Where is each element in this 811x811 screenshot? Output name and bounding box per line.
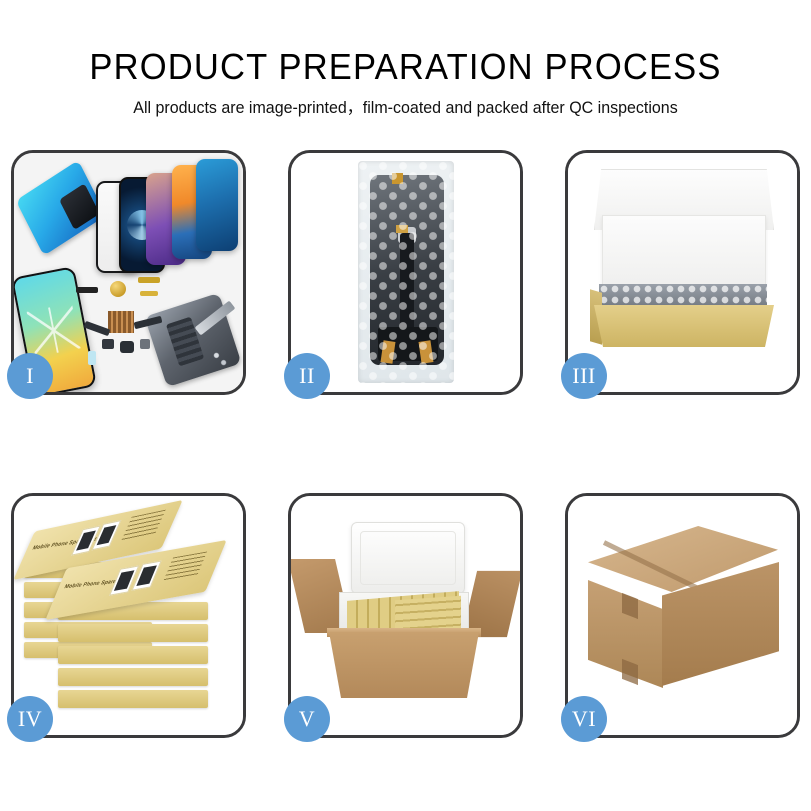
step-badge-2: II — [284, 353, 330, 399]
gold-box-graphic — [58, 690, 208, 708]
page-header: PRODUCT PREPARATION PROCESS All products… — [0, 0, 811, 119]
step-badge-1: I — [7, 353, 53, 399]
chip-grid-graphic — [108, 311, 134, 333]
bubble-bag-graphic — [358, 161, 454, 383]
step-badge-6: VI — [561, 696, 607, 742]
small-component-graphic — [140, 339, 150, 349]
gold-box-graphic — [58, 624, 208, 642]
step-1-image — [14, 153, 243, 392]
foam-sheet-graphic — [602, 215, 766, 289]
foam-lid-graphic — [351, 522, 465, 594]
process-step-5[interactable]: V — [288, 493, 523, 738]
process-step-2[interactable]: II — [288, 150, 523, 395]
page-title: PRODUCT PREPARATION PROCESS — [16, 46, 795, 88]
page-subtitle: All products are image-printed，film-coat… — [12, 97, 799, 119]
step-3-image — [568, 153, 797, 392]
step-6-image — [568, 496, 797, 735]
gold-box-graphic — [58, 646, 208, 664]
process-step-6[interactable]: VI — [565, 493, 800, 738]
small-component-graphic — [88, 351, 96, 365]
step-2-image — [291, 153, 520, 392]
gold-connector-graphic — [140, 291, 158, 296]
gold-box-graphic — [58, 668, 208, 686]
crack-pattern — [27, 303, 81, 357]
process-step-3[interactable]: III — [565, 150, 800, 395]
gold-connector-graphic — [138, 277, 160, 283]
process-step-1[interactable]: I — [11, 150, 246, 395]
screen-protector-graphic — [16, 160, 107, 256]
process-step-4[interactable]: Mobile Phone Spare Parts Mobile Phone Sp… — [11, 493, 246, 738]
process-step-grid: I II — [11, 150, 800, 738]
phone-teal-graphic — [196, 159, 238, 251]
flex-cable-graphic — [84, 321, 111, 336]
bubble-texture — [358, 161, 454, 383]
carton-body-graphic — [329, 632, 479, 698]
carton-packing-illustration — [291, 496, 520, 735]
earpiece-graphic — [76, 287, 98, 293]
box-front-graphic — [594, 305, 774, 347]
step-badge-3: III — [561, 353, 607, 399]
step-4-image: Mobile Phone Spare Parts Mobile Phone Sp… — [14, 496, 243, 735]
screws-graphic — [211, 350, 229, 368]
box-spec-lines — [121, 510, 166, 542]
stacked-boxes-illustration: Mobile Phone Spare Parts Mobile Phone Sp… — [14, 496, 243, 735]
sealed-carton-illustration — [568, 496, 797, 735]
small-component-graphic — [102, 339, 114, 349]
bubble-wrap-illustration — [291, 153, 520, 392]
speaker-part-graphic — [110, 281, 126, 297]
box-spec-lines — [163, 551, 207, 581]
inner-box-illustration — [568, 153, 797, 392]
step-badge-4: IV — [7, 696, 53, 742]
step-5-image — [291, 496, 520, 735]
parts-collage-illustration — [14, 153, 243, 392]
step-badge-5: V — [284, 696, 330, 742]
small-component-graphic — [120, 341, 134, 353]
